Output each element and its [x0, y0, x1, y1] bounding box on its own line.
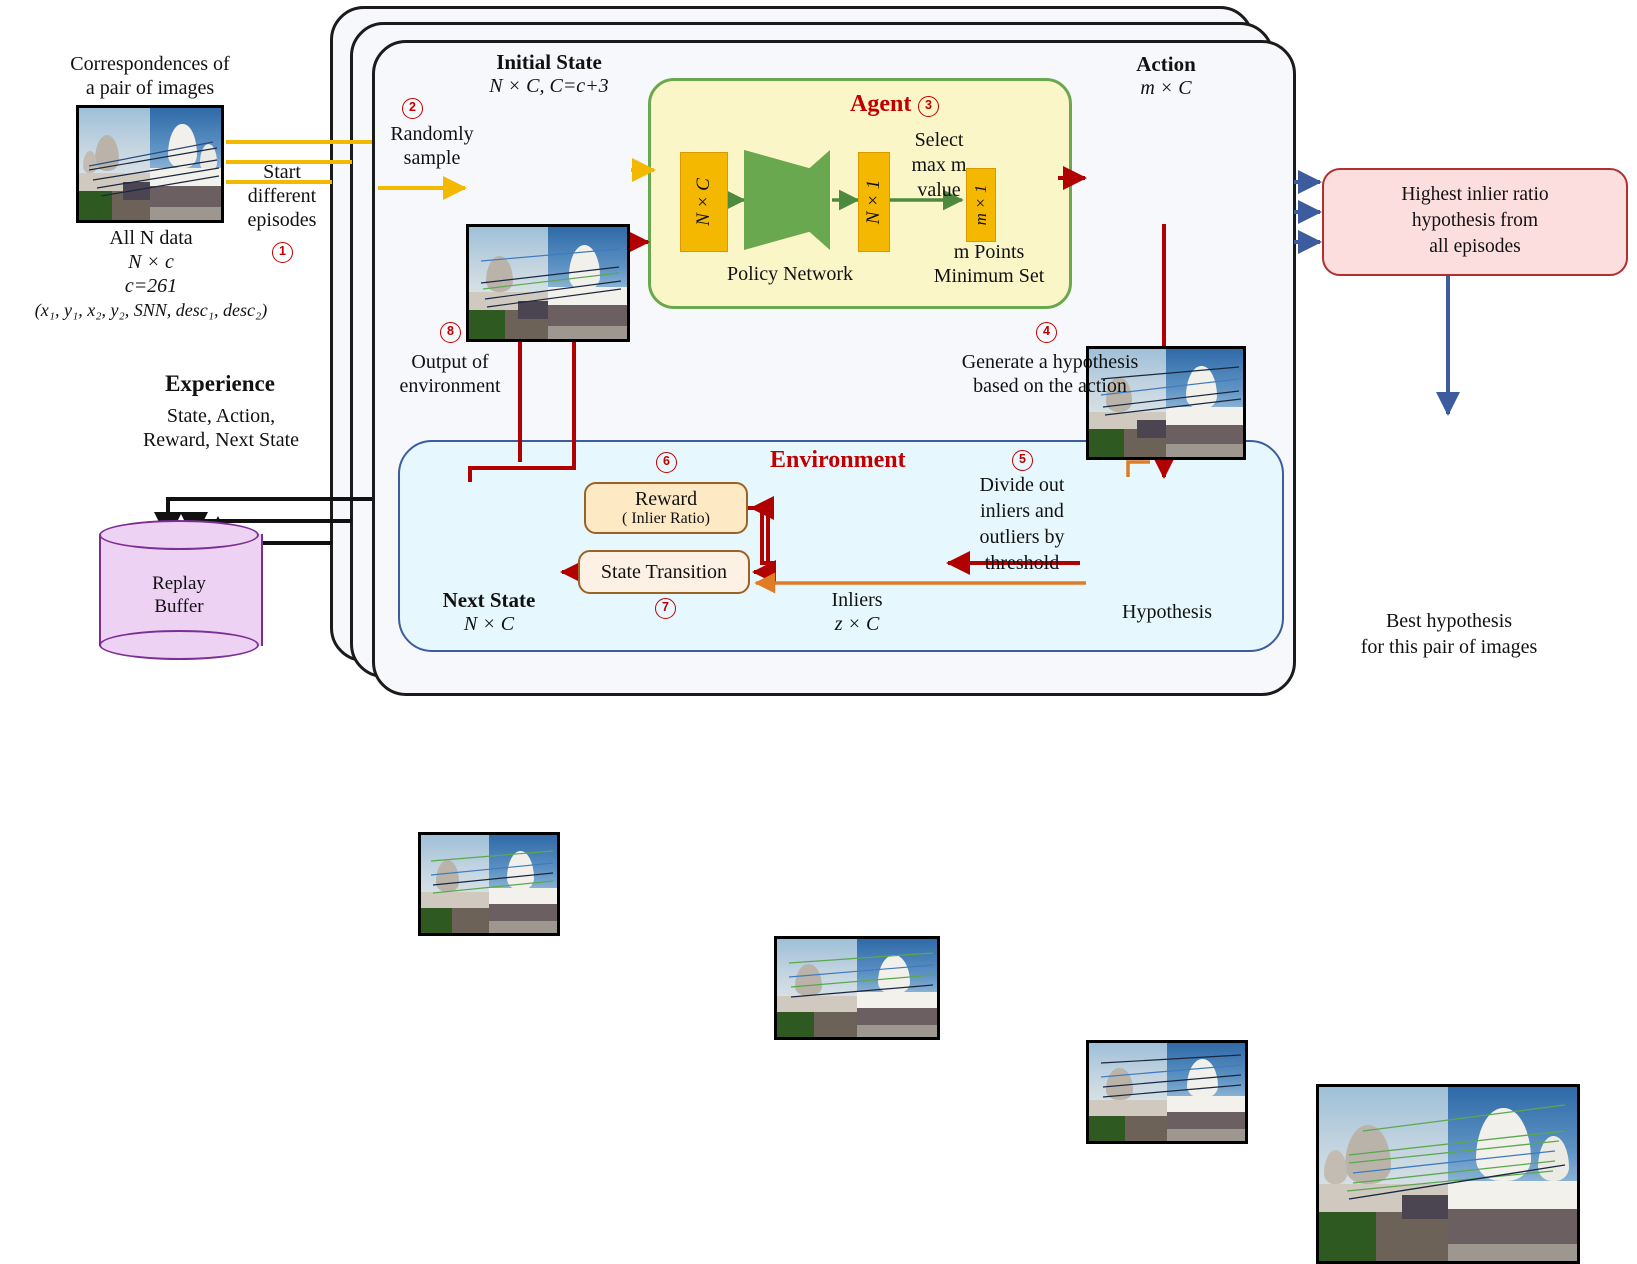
randomly-sample-line2: sample [378, 146, 486, 170]
generate-line2: based on the action [936, 374, 1164, 398]
step-marker-2: 2 [402, 98, 423, 119]
agent-input-bar-label: N × C [693, 178, 715, 226]
start-line1: Start [228, 160, 336, 184]
agent-title: Agent [850, 92, 911, 116]
agent-input-bar: N × C [680, 152, 728, 252]
all-n-data-caption: All N data N × c c=261 (x₁, y₁, x₂, y₂, … [10, 226, 292, 322]
generate-line1: Generate a hypothesis [936, 350, 1164, 374]
reward-label-line2: ( Inlier Ratio) [586, 510, 746, 528]
state-transition-box: State Transition [578, 550, 750, 594]
image-best-hypothesis [1316, 1084, 1580, 1264]
randomly-sample-label: Randomly sample [378, 122, 486, 170]
agent-selected-bar-label: m × 1 [971, 185, 991, 226]
reward-label-line1: Reward [586, 484, 746, 510]
inliers-title: Inliers [774, 588, 940, 612]
divide-line3: outliers by [952, 524, 1092, 550]
next-state-title: Next State [408, 588, 570, 612]
experience-title: Experience [110, 372, 330, 396]
step-marker-7: 7 [655, 598, 676, 619]
inliers-dims: z × C [774, 612, 940, 636]
step-marker-8: 8 [440, 322, 461, 343]
next-state-dims: N × C [408, 612, 570, 636]
divide-line1: Divide out [952, 472, 1092, 498]
reward-box: Reward ( Inlier Ratio) [584, 482, 748, 534]
divide-line4: threshold [952, 550, 1092, 576]
minimum-set-label: m Points Minimum Set [914, 240, 1064, 288]
correspondences-title: Correspondences of a pair of images [20, 52, 280, 100]
highest-inlier-text: Highest inlier ratio hypothesis from all… [1324, 182, 1626, 260]
image-inliers [774, 936, 940, 1040]
step-marker-4: 4 [1036, 322, 1057, 343]
step-marker-6: 6 [656, 452, 677, 473]
start-line3: episodes [228, 208, 336, 232]
replay-buffer-label: Replay Buffer [99, 572, 259, 618]
experience-items: State, Action, Reward, Next State [96, 404, 346, 452]
highest-line2: hypothesis from [1324, 208, 1626, 234]
minset-line2: Minimum Set [914, 264, 1064, 288]
hypothesis-title: Hypothesis [1086, 600, 1248, 624]
output-environment-label: Output of environment [384, 350, 516, 398]
generate-hypothesis-label: Generate a hypothesis based on the actio… [936, 350, 1164, 398]
randomly-sample-line1: Randomly [378, 122, 486, 146]
divide-threshold-label: Divide out inliers and outliers by thres… [952, 472, 1092, 576]
experience-line1: State, Action, [96, 404, 346, 428]
start-line2: different [228, 184, 336, 208]
image-correspondences-all-data [76, 105, 224, 223]
n-times-c-label: N × c [10, 250, 292, 274]
replay-buffer: Replay Buffer [99, 520, 259, 660]
output-env-line1: Output of [384, 350, 516, 374]
step-marker-1: 1 [272, 242, 293, 263]
initial-state-title: Initial State [466, 50, 632, 74]
feature-tuple-label: (x₁, y₁, x₂, y₂, SNN, desc₁, desc₂) [10, 298, 292, 322]
best-hypothesis-caption: Best hypothesis for this pair of images [1302, 608, 1596, 660]
minset-line1: m Points [914, 240, 1064, 264]
image-initial-state [466, 224, 630, 342]
action-dims: m × C [1086, 76, 1246, 100]
agent-output-bar-label: N × 1 [863, 180, 885, 225]
replay-buffer-line1: Replay [99, 572, 259, 595]
environment-title: Environment [770, 448, 906, 472]
best-hyp-line1: Best hypothesis [1302, 608, 1596, 634]
select-line1: Select [896, 128, 982, 153]
highest-line1: Highest inlier ratio [1324, 182, 1626, 208]
divide-line2: inliers and [952, 498, 1092, 524]
correspondences-title-line2: a pair of images [20, 76, 280, 100]
action-title: Action [1086, 52, 1246, 76]
step-marker-5: 5 [1012, 450, 1033, 471]
correspondences-title-line1: Correspondences of [20, 52, 280, 76]
image-hypothesis [1086, 1040, 1248, 1144]
start-episodes-label: Start different episodes [228, 160, 336, 232]
experience-line2: Reward, Next State [96, 428, 346, 452]
best-hyp-line2: for this pair of images [1302, 634, 1596, 660]
step-marker-3: 3 [918, 96, 939, 117]
agent-selected-bar: m × 1 [966, 168, 996, 242]
c-value-label: c=261 [10, 274, 292, 298]
state-transition-label: State Transition [580, 552, 748, 592]
policy-network-hourglass [744, 150, 830, 250]
replay-buffer-line2: Buffer [99, 595, 259, 618]
highest-inlier-box: Highest inlier ratio hypothesis from all… [1322, 168, 1628, 276]
policy-network-label: Policy Network [684, 262, 896, 286]
output-env-line2: environment [384, 374, 516, 398]
image-next-state [418, 832, 560, 936]
initial-state-dims: N × C, C=c+3 [450, 74, 648, 98]
agent-output-bar: N × 1 [858, 152, 890, 252]
highest-line3: all episodes [1324, 234, 1626, 260]
